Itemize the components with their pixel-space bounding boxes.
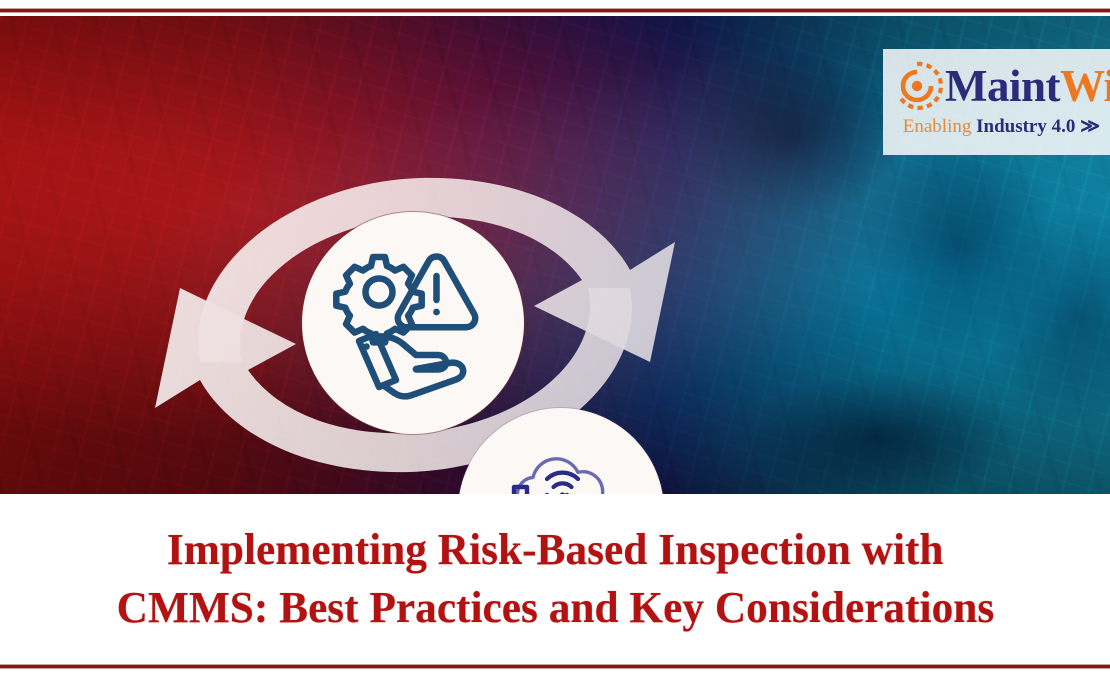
- cloud-icon: [517, 459, 602, 494]
- maintwiz-gear-icon: [891, 60, 943, 112]
- hero-banner: i4.0 Maint: [0, 16, 1110, 494]
- factory-icon: [514, 487, 585, 494]
- risk-maintenance-glyphs: [328, 238, 498, 408]
- risk-maintenance-icon: [302, 212, 524, 434]
- page-title: Implementing Risk-Based Inspection with …: [0, 494, 1110, 664]
- chevron-right-icon: ≫: [1080, 116, 1100, 137]
- top-divider-rule: [0, 8, 1110, 13]
- industry-4-0-glyphs: i4.0: [491, 445, 631, 494]
- logo-tagline: Enabling Industry 4.0 ≫: [891, 117, 1102, 137]
- logo-word-wiz: Wiz: [1060, 61, 1110, 111]
- logo-wordmark: MaintWiz: [945, 64, 1110, 109]
- page-title-line-1: Implementing Risk-Based Inspection with: [167, 521, 944, 579]
- page-root: i4.0 Maint: [0, 0, 1110, 680]
- bottom-divider-rule: [0, 664, 1110, 669]
- logo-tagline-rest: Industry 4.0: [976, 116, 1075, 137]
- logo-wordmark-row: MaintWiz: [891, 55, 1102, 117]
- logo-word-maint: Maint: [945, 61, 1060, 111]
- page-title-line-2: CMMS: Best Practices and Key Considerati…: [116, 579, 994, 637]
- wifi-icon: [547, 473, 578, 494]
- logo-tagline-lead: Enabling: [903, 116, 972, 137]
- maintwiz-logo[interactable]: MaintWiz Enabling Industry 4.0 ≫: [883, 49, 1110, 155]
